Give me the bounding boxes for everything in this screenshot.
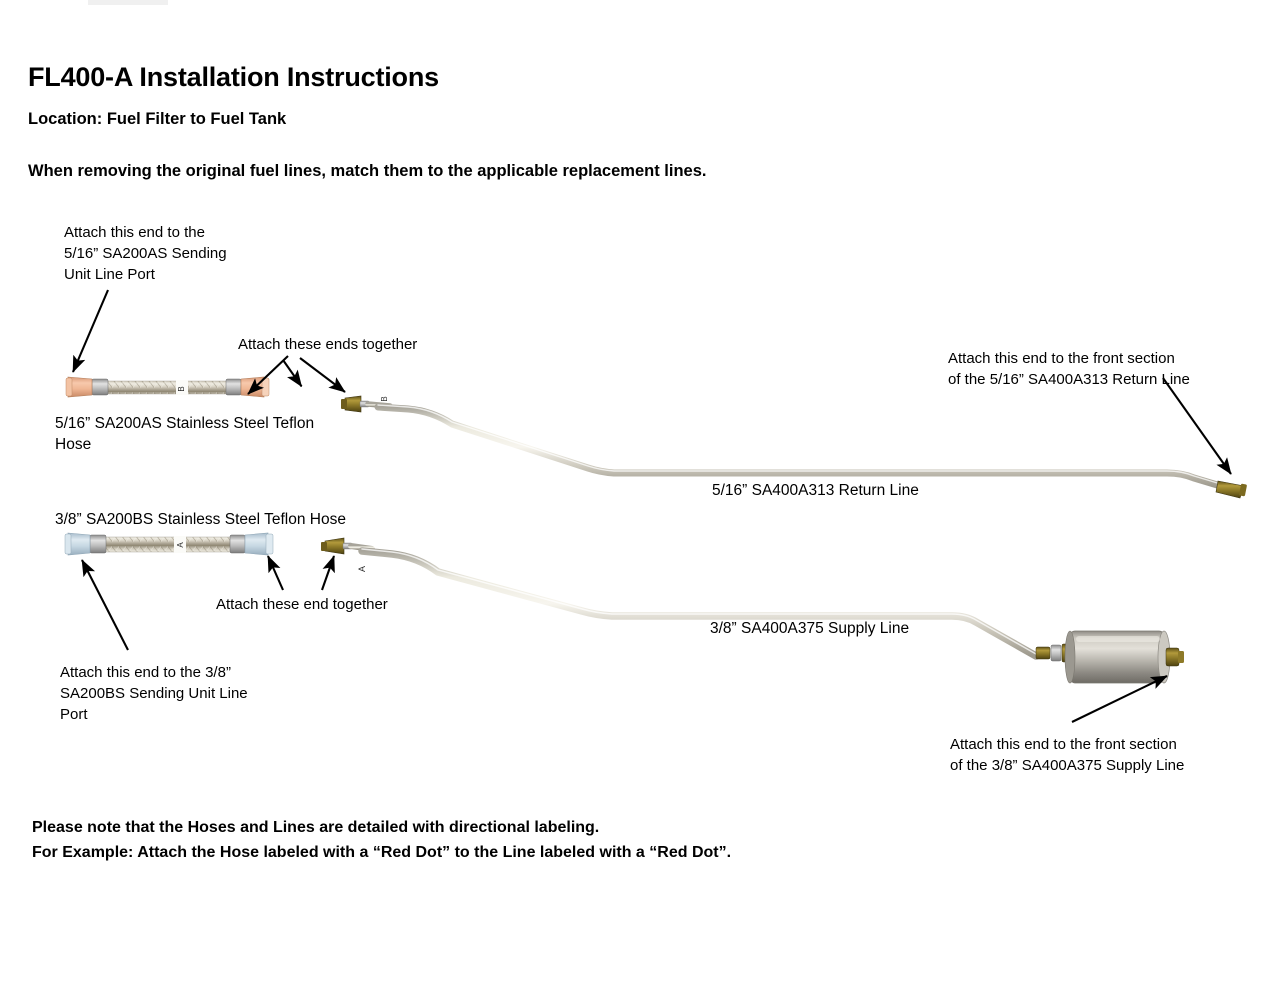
callout-attach-ends-together-top: Attach these ends together [238, 334, 417, 355]
part-label-supply-line: 3/8” SA400A375 Supply Line [710, 618, 909, 639]
arrow-attach-top-right [300, 358, 345, 392]
callout-hose-b-end: Attach this end to the 3/8” SA200BS Send… [60, 662, 248, 725]
return-line-direction-marker: B [380, 396, 389, 401]
hose-sa200as: B [66, 377, 269, 397]
callout-attach-ends-together-bottom: Attach these end together [216, 594, 388, 615]
footer-note: Please note that the Hoses and Lines are… [32, 815, 731, 865]
callout-hose-a-end: Attach this end to the 5/16” SA200AS Sen… [64, 222, 227, 285]
page-title: FL400-A Installation Instructions [28, 62, 439, 93]
callout-supply-line-front: Attach this end to the front section of … [950, 734, 1184, 776]
location-subtitle: Location: Fuel Filter to Fuel Tank [28, 110, 286, 129]
part-label-hose-b: 3/8” SA200BS Stainless Steel Teflon Hose [55, 509, 346, 530]
hose-b-direction-marker: A [176, 542, 185, 548]
callout-return-line-front: Attach this end to the front section of … [948, 348, 1190, 390]
arrow-hose-b-end [82, 560, 128, 650]
arrow-supply-line-front [1072, 676, 1167, 722]
part-label-hose-a: 5/16” SA200AS Stainless Steel Teflon Hos… [55, 413, 314, 455]
arrow-return-line-front [1163, 378, 1231, 474]
arrow-attach-bottom-left [268, 556, 283, 590]
lead-instruction: When removing the original fuel lines, m… [28, 162, 706, 181]
instruction-sheet-page: FL400-A Installation Instructions Locati… [0, 0, 1280, 989]
supply-line-direction-marker: A [357, 566, 367, 572]
arrow-attach-top-left-arm [248, 356, 288, 394]
arrow-attach-bottom-right [322, 556, 334, 590]
fuel-filter-canister [1036, 631, 1184, 683]
arrow-attach-top-left [283, 358, 302, 388]
arrow-hose-a-end [73, 290, 108, 372]
hose-a-direction-marker: B [177, 386, 186, 391]
supply-line-sa400a375: A [321, 538, 1036, 656]
hose-sa200bs: A [65, 533, 273, 555]
part-label-return-line: 5/16” SA400A313 Return Line [712, 480, 919, 501]
top-edge-artifact [88, 0, 168, 5]
